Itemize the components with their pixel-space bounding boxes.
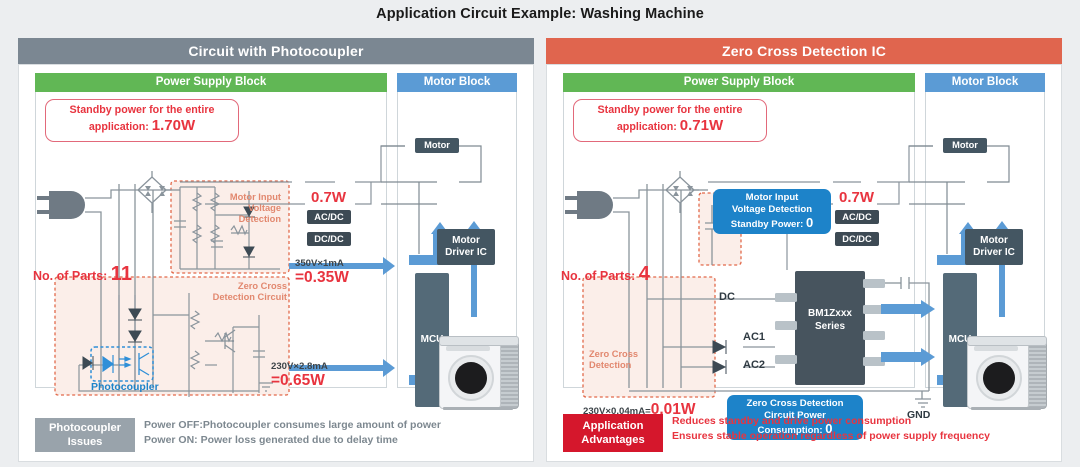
parts-number-right: 4 (639, 263, 650, 285)
motor-box-right: Motor (943, 138, 987, 153)
measurement-2-result: =0.65W (271, 372, 325, 389)
pin-label-ac1: AC1 (743, 331, 765, 343)
blue-callout-1-zero: 0 (806, 215, 813, 230)
zero-cross-detection-label-right: Zero Cross Detection (589, 349, 689, 371)
footer-right: Application Advantages Reduces standby a… (563, 414, 1051, 452)
measurement-2-expr: 230V×2.8mA (271, 361, 328, 372)
motor-driver-ic-left: Motor Driver IC (437, 229, 495, 265)
footer-left: Photocoupler Issues Power OFF:Photocoupl… (35, 418, 523, 452)
blue-callout-1-line3: Standby Power: (731, 219, 806, 230)
standby-value-right: 0.71W (680, 117, 723, 134)
measurement-2-left: 230V×2.8mA =0.65W (271, 361, 328, 390)
blue-callout-1-line2: Voltage Detection (732, 204, 812, 215)
pin-label-dc: DC (719, 291, 735, 303)
standby-line2-prefix-right: application: (617, 121, 680, 133)
standby-line1: Standby power for the entire (70, 104, 215, 116)
footer-line-2-right: Ensures stable operation regardless of p… (672, 429, 990, 444)
footer-text-left: Power OFF:Photocoupler consumes large am… (144, 418, 441, 448)
motor-driver-ic-right: Motor Driver IC (965, 229, 1023, 265)
parts-count-left: No. of Parts: 11 (33, 263, 132, 286)
standby-value-left: 1.70W (152, 117, 195, 134)
standby-callout-right: Standby power for the entire application… (573, 99, 767, 142)
washing-machine-illustration-right (965, 335, 1049, 411)
measurement-1-result: =0.35W (295, 269, 349, 286)
footer-text-right: Reduces standby and drive power consumpt… (672, 414, 990, 444)
parts-number-left: 11 (111, 263, 132, 285)
photocoupler-label: Photocoupler (91, 381, 159, 393)
ic-series: Series (815, 321, 845, 332)
washing-machine-illustration-left (437, 335, 521, 411)
parts-label-right: No. of Parts: (561, 269, 639, 283)
standby-line1-right: Standby power for the entire (598, 104, 743, 116)
panel-zerocross: Zero Cross Detection IC Power Supply Blo… (546, 38, 1062, 462)
blue-callout-1-line1: Motor Input (746, 192, 799, 203)
panel-body-zerocross: Power Supply Block Motor Block (546, 64, 1062, 462)
panel-body-photocoupler: Power Supply Block Motor Block (18, 64, 534, 462)
footer-tag-left: Photocoupler Issues (35, 418, 135, 452)
footer-line-2: Power ON: Power loss generated due to de… (144, 433, 441, 448)
dc-dc-block-left: DC/DC (307, 232, 351, 246)
panel-header-photocoupler: Circuit with Photocoupler (18, 38, 534, 64)
ic-name: BM1Zxxx (808, 308, 852, 319)
page-title: Application Circuit Example: Washing Mac… (0, 6, 1080, 22)
dc-dc-block-right: DC/DC (835, 232, 879, 246)
zero-cross-ic-label: BM1Zxxx Series (795, 308, 865, 333)
panel-header-zerocross: Zero Cross Detection IC (546, 38, 1062, 64)
parts-label-left: No. of Parts: (33, 269, 111, 283)
pin-label-ac2: AC2 (743, 359, 765, 371)
motor-input-detection-label-left: Motor Input Voltage Detection (195, 192, 281, 225)
panel-photocoupler: Circuit with Photocoupler Power Supply B… (18, 38, 534, 462)
zero-cross-circuit-label-left: Zero Cross Detection Circuit (169, 281, 287, 303)
measurement-1-expr: 350V×1mA (295, 258, 344, 269)
parts-count-right: No. of Parts: 4 (561, 263, 650, 286)
standby-callout-left: Standby power for the entire application… (45, 99, 239, 142)
footer-tag-right: Application Advantages (563, 414, 663, 452)
supply-power-value-right: 0.7W (839, 189, 874, 206)
measurement-1-left: 350V×1mA =0.35W (295, 258, 349, 287)
ac-dc-block-right: AC/DC (835, 210, 879, 224)
motor-input-standby-callout: Motor Input Voltage Detection Standby Po… (713, 189, 831, 234)
blue-callout-2-line1: Zero Cross Detection (746, 398, 843, 409)
footer-line-1: Power OFF:Photocoupler consumes large am… (144, 418, 441, 433)
supply-power-value-left: 0.7W (311, 189, 346, 206)
footer-line-1-right: Reduces standby and drive power consumpt… (672, 414, 990, 429)
standby-line2-prefix: application: (89, 121, 152, 133)
motor-box-left: Motor (415, 138, 459, 153)
ac-dc-block-left: AC/DC (307, 210, 351, 224)
